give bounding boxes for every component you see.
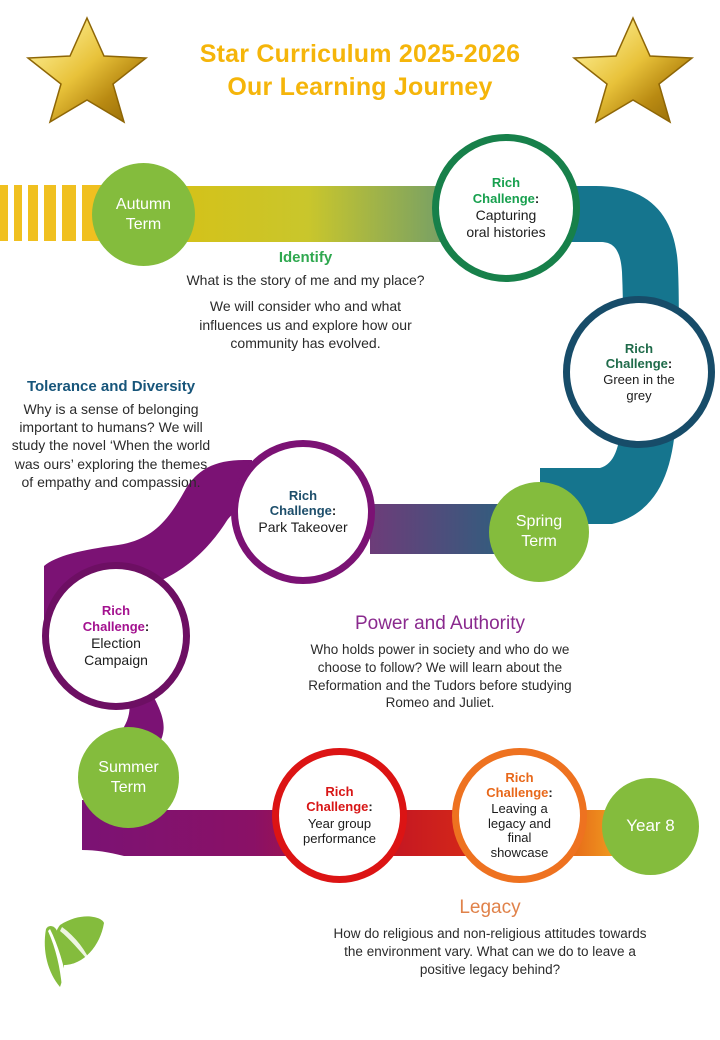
page-title: Star Curriculum 2025-2026 Our Learning J… xyxy=(120,38,600,104)
rc-body-line2: legacy and xyxy=(488,817,551,832)
leaf-icon xyxy=(26,895,106,995)
rc-body-line2: Campaign xyxy=(84,652,148,669)
rc-head-line1: Rich xyxy=(83,603,149,618)
topic-paragraph-1: What is the story of me and my place? xyxy=(178,271,433,289)
term-label-line2: Term xyxy=(116,215,171,235)
term-label-line1: Autumn xyxy=(116,195,171,215)
rc-body-line2: grey xyxy=(603,388,675,404)
rc-body-line3: final xyxy=(488,831,551,846)
rich-challenge-election-campaign[interactable]: Rich Challenge: Election Campaign xyxy=(42,562,190,710)
curriculum-poster: Star Curriculum 2025-2026 Our Learning J… xyxy=(0,0,720,1040)
topic-heading: Legacy xyxy=(330,897,650,919)
topic-identify: Identify What is the story of me and my … xyxy=(178,249,433,361)
rc-body-line1: Election xyxy=(84,635,148,652)
rc-head-line1: Rich xyxy=(270,488,336,503)
rc-colon: : xyxy=(368,799,372,814)
rich-challenge-green-in-the-grey[interactable]: Rich Challenge: Green in the grey xyxy=(563,296,715,448)
ribbon-autumn-to-oral xyxy=(186,186,458,242)
rich-challenge-year-group-performance[interactable]: Rich Challenge: Year group performance xyxy=(272,748,407,883)
rc-colon: : xyxy=(548,785,552,800)
term-bubble-spring[interactable]: Spring Term xyxy=(489,482,589,582)
topic-paragraph-1: Who holds power in society and who do we… xyxy=(290,641,590,712)
rc-body-line4: showcase xyxy=(488,846,551,861)
rc-colon: : xyxy=(145,619,149,634)
term-label-line1: Spring xyxy=(516,512,562,532)
topic-heading: Tolerance and Diversity xyxy=(8,378,214,395)
rich-challenge-park-takeover[interactable]: Rich Challenge: Park Takeover xyxy=(231,440,375,584)
rc-head-line1: Rich xyxy=(606,341,672,356)
rc-head-line2: Challenge xyxy=(306,799,368,814)
rc-head-line1: Rich xyxy=(486,770,552,785)
term-bubble-autumn[interactable]: Autumn Term xyxy=(92,163,195,266)
rc-body-line2: performance xyxy=(303,831,376,847)
topic-tolerance-and-diversity: Tolerance and Diversity Why is a sense o… xyxy=(8,378,214,499)
term-label-line1: Year 8 xyxy=(626,816,675,837)
rc-head-line2: Challenge xyxy=(606,356,668,371)
rc-head-line2: Challenge xyxy=(270,503,332,518)
rc-head-line1: Rich xyxy=(306,784,372,799)
rc-colon: : xyxy=(668,356,672,371)
term-label-line1: Summer xyxy=(98,758,158,778)
rich-challenge-leaving-a-legacy[interactable]: Rich Challenge: Leaving a legacy and fin… xyxy=(452,748,587,883)
rc-head-line2: Challenge xyxy=(486,785,548,800)
rich-challenge-oral-histories[interactable]: Rich Challenge: Capturing oral histories xyxy=(432,134,580,282)
term-label-line2: Term xyxy=(516,532,562,552)
rc-head-line2: Challenge xyxy=(83,619,145,634)
rc-body-line1: Year group xyxy=(303,816,376,832)
rc-body-line2: oral histories xyxy=(466,224,545,241)
term-bubble-summer[interactable]: Summer Term xyxy=(78,727,179,828)
title-line-1: Star Curriculum 2025-2026 xyxy=(120,38,600,71)
topic-heading: Identify xyxy=(178,249,433,266)
rc-colon: : xyxy=(535,191,539,206)
topic-heading: Power and Authority xyxy=(290,613,590,635)
rc-colon: : xyxy=(332,503,336,518)
title-line-2: Our Learning Journey xyxy=(120,71,600,104)
rc-body-line1: Leaving a xyxy=(488,802,551,817)
rc-body-line1: Park Takeover xyxy=(258,519,347,536)
term-bubble-year8[interactable]: Year 8 xyxy=(602,778,699,875)
term-label-line2: Term xyxy=(98,778,158,798)
rc-body-line1: Capturing xyxy=(466,207,545,224)
rc-head-line2: Challenge xyxy=(473,191,535,206)
topic-paragraph-2: We will consider who and what influences… xyxy=(178,297,433,352)
rc-head-line1: Rich xyxy=(473,175,539,190)
topic-paragraph-1: Why is a sense of belonging important to… xyxy=(8,400,214,491)
topic-legacy: Legacy How do religious and non-religiou… xyxy=(330,897,650,986)
topic-power-and-authority: Power and Authority Who holds power in s… xyxy=(290,613,590,720)
topic-paragraph-1: How do religious and non-religious attit… xyxy=(330,925,650,978)
rc-body-line1: Green in the xyxy=(603,372,675,388)
